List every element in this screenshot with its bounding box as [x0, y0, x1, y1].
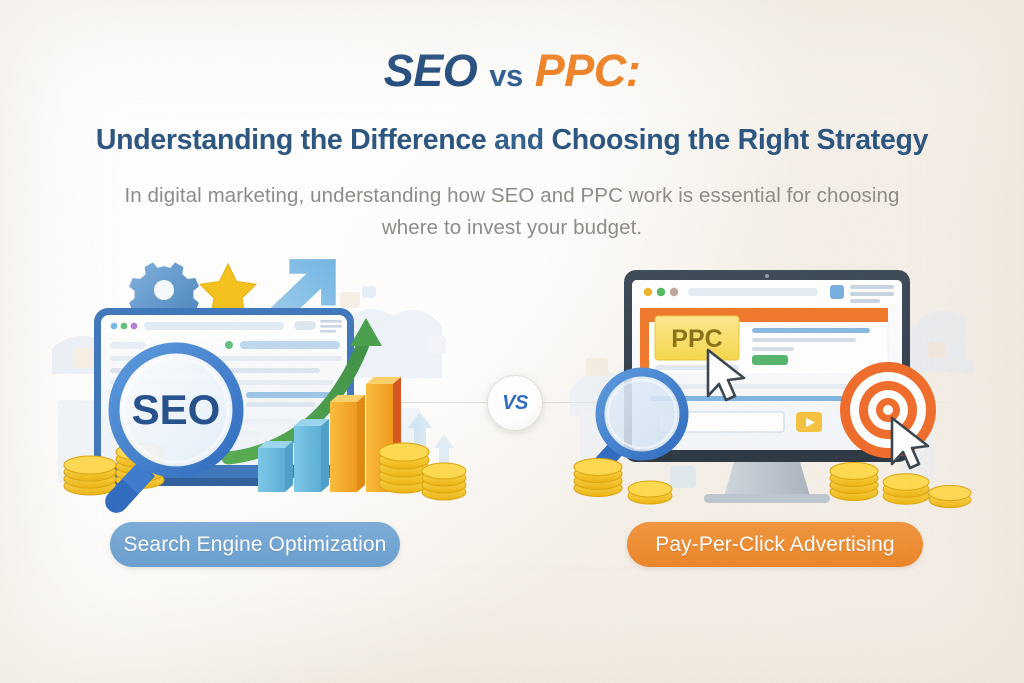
- ad-cta-badge: [752, 355, 788, 365]
- title-ppc: PPC:: [535, 45, 641, 96]
- monitor-base: [704, 494, 830, 503]
- browser-dot-3: [131, 323, 138, 330]
- ad-label: PPC: [671, 325, 722, 353]
- ppc-pill-label: Pay-Per-Click Advertising: [627, 522, 923, 567]
- ppc-scene: PPC: [562, 250, 992, 520]
- magnifier-icon: SEO: [105, 348, 238, 513]
- browser-dot-2: [121, 323, 128, 330]
- magnifier-label: SEO: [132, 386, 221, 433]
- monitor-dot-1: [644, 288, 652, 296]
- seo-illustration-panel: SEO: [52, 250, 482, 520]
- seo-pill-label: Search Engine Optimization: [110, 522, 400, 567]
- page-lede: In digital marketing, understanding how …: [0, 180, 1024, 244]
- coin-stack-icon-right: [379, 443, 466, 500]
- subtitle-part1: Understanding the Difference: [96, 124, 487, 156]
- browser-address-bar[interactable]: [144, 322, 284, 330]
- coin-stack-icon-left: [574, 459, 672, 505]
- page-title: SEO vs PPC:: [0, 48, 1024, 93]
- browser-dot-1: [111, 323, 118, 330]
- monitor-dot-3: [670, 288, 678, 296]
- subtitle-part2: and: [494, 124, 544, 156]
- monitor-address-bar[interactable]: [688, 288, 818, 296]
- title-seo: SEO: [384, 45, 478, 96]
- page-subtitle: Understanding the Difference and Choosin…: [0, 124, 1024, 157]
- lede-line-1: In digital marketing, understanding how …: [0, 180, 1024, 212]
- ppc-illustration-panel: PPC: [562, 250, 992, 520]
- subtitle-part3: Choosing the Right Strategy: [552, 124, 929, 156]
- webcam-icon: [765, 274, 769, 278]
- seo-scene: SEO: [52, 250, 482, 520]
- lede-line-2: where to invest your budget.: [0, 212, 1024, 244]
- coin-stack-icon-right: [830, 463, 971, 508]
- title-vs: vs: [489, 58, 522, 93]
- monitor-dot-2: [657, 288, 665, 296]
- vs-badge: VS: [487, 375, 543, 431]
- monitor-stand: [724, 462, 810, 496]
